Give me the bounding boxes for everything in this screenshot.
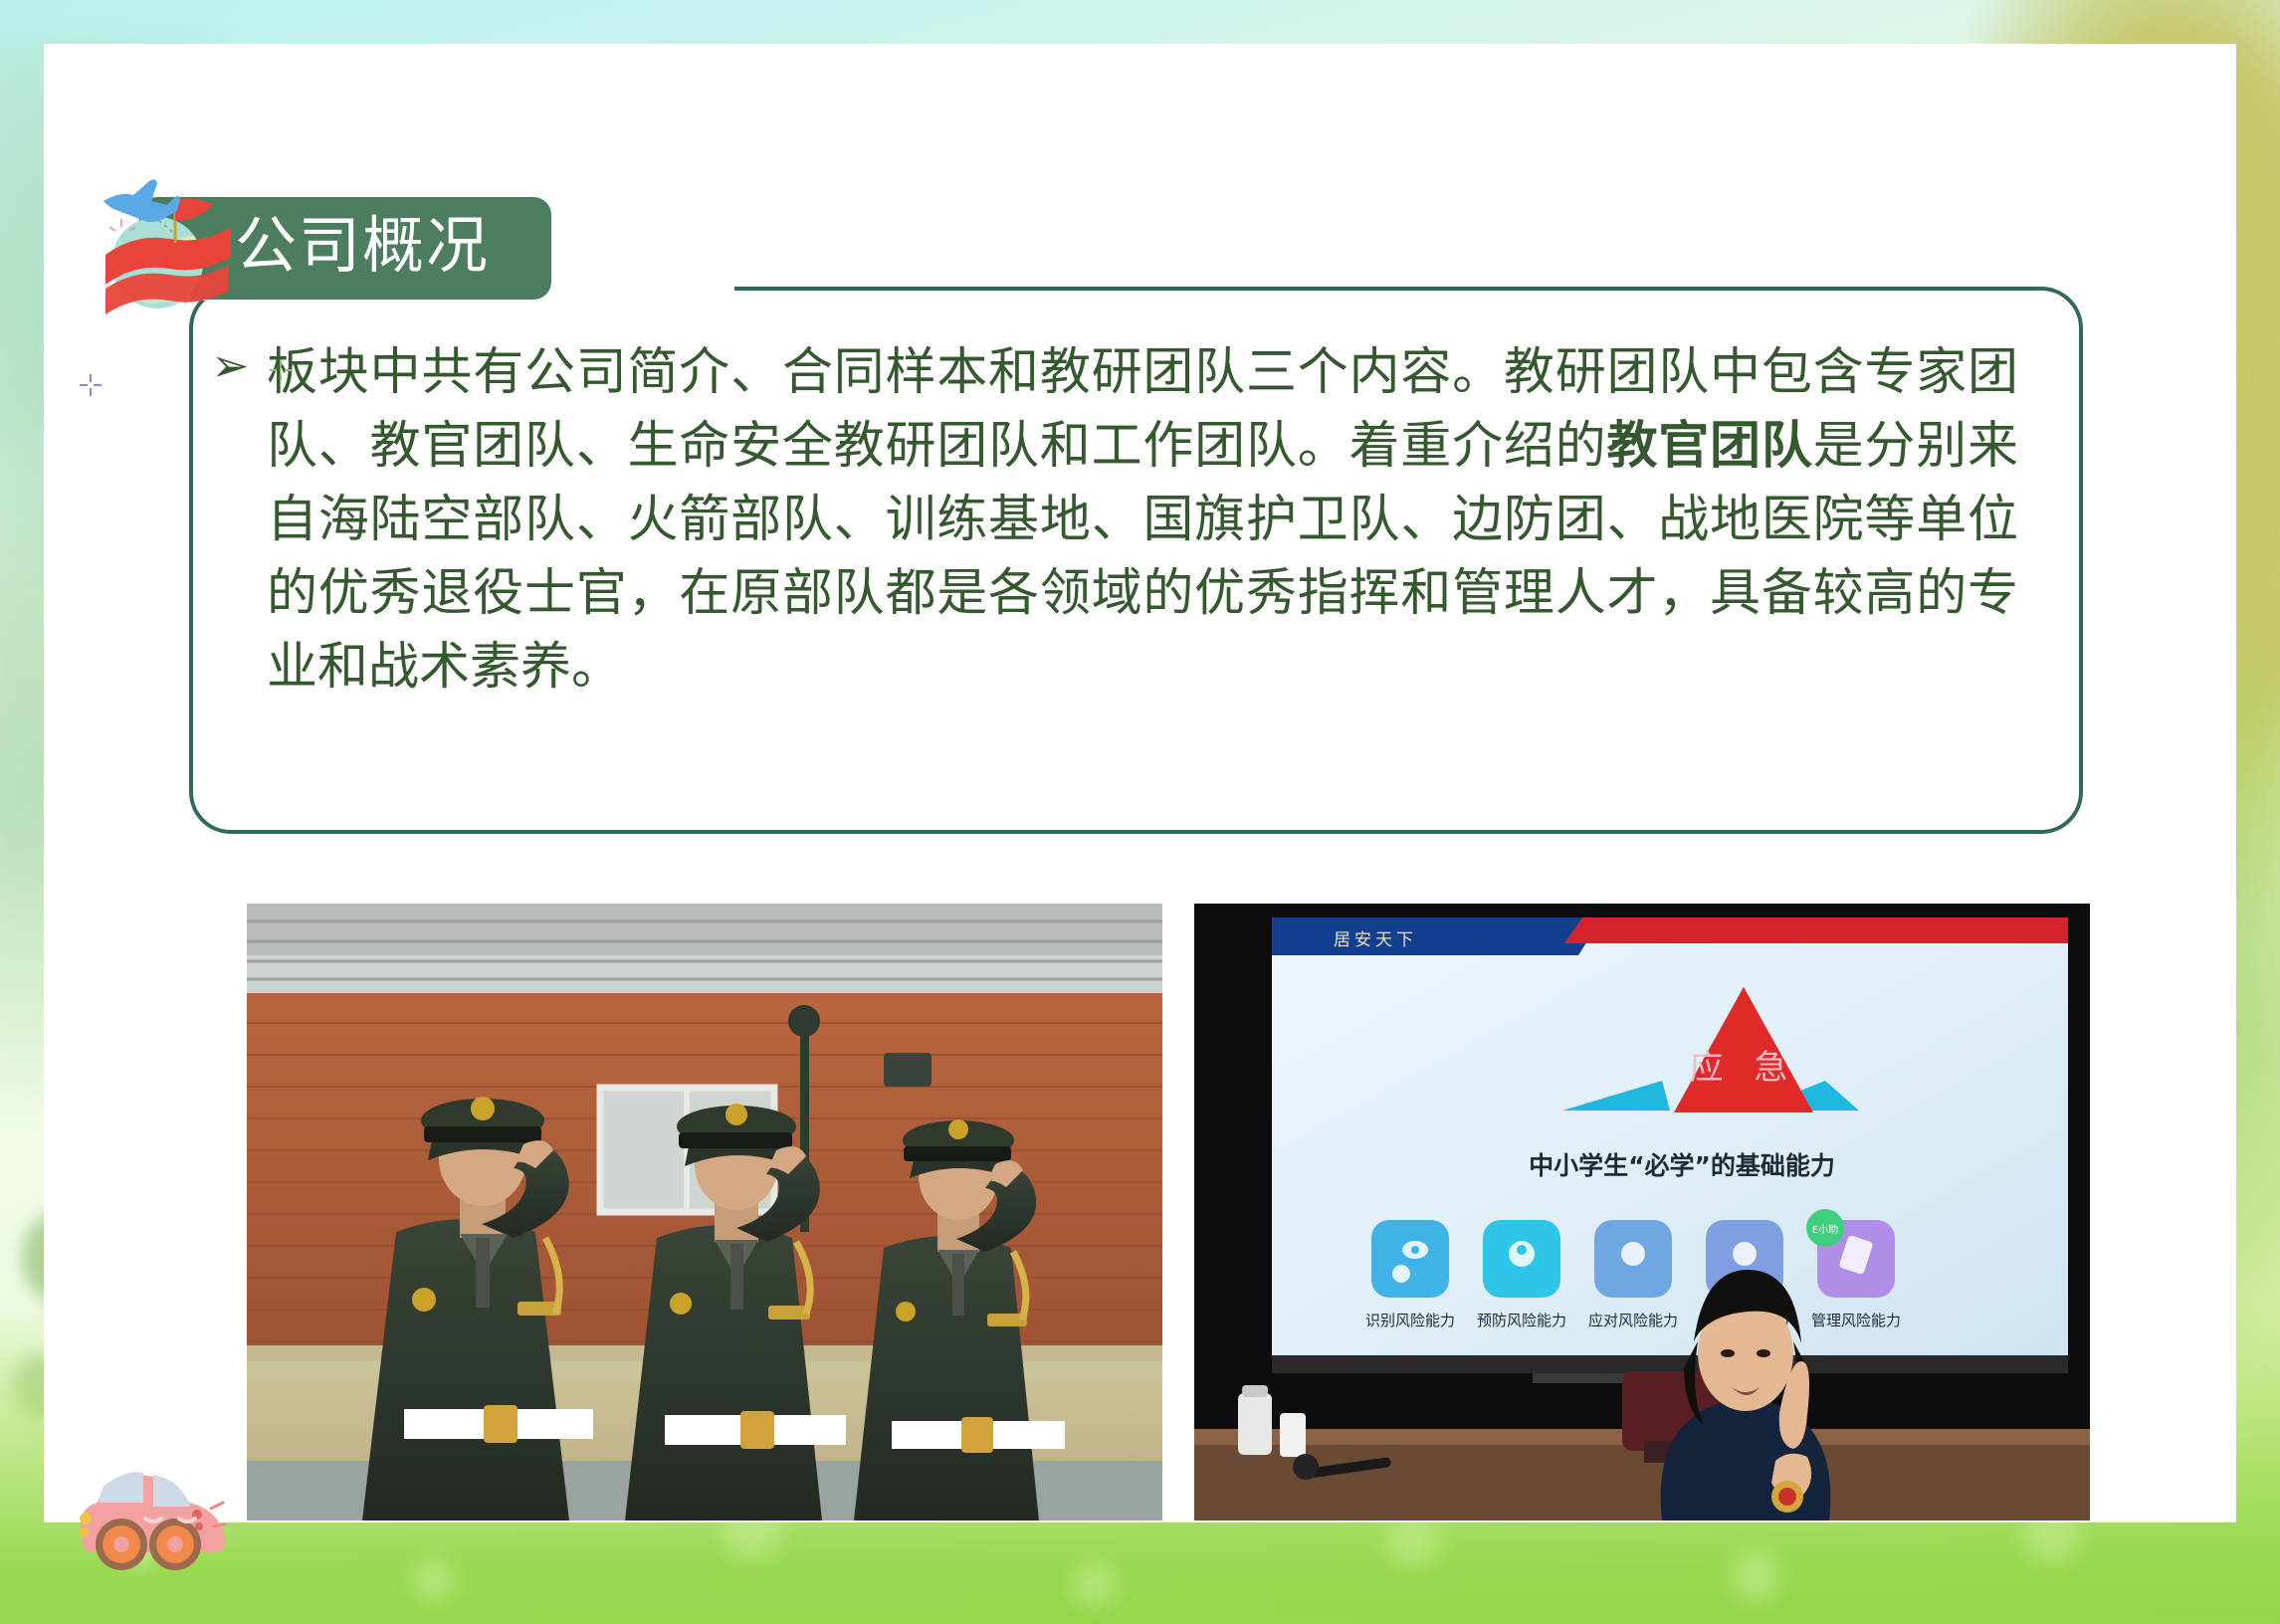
section-badge-label: 公司概况 xyxy=(139,197,551,300)
toy-car-icon xyxy=(58,1447,247,1576)
soldiers-saluting-photo xyxy=(247,904,1162,1521)
svg-text:中小学生“必学”的基础能力: 中小学生“必学”的基础能力 xyxy=(1529,1151,1835,1180)
safety-lecture-photo: 居安天下 应 急 中小学生“必学”的基础能力 xyxy=(1194,904,2090,1521)
body-paragraph: 板块中共有公司简介、合同样本和教研团队三个内容。教研团队中包含专家团队、教官团队… xyxy=(267,316,2018,705)
svg-text:管理风险能力: 管理风险能力 xyxy=(1811,1312,1901,1329)
section-header: 公司概况 xyxy=(139,197,551,300)
svg-text:应对风险能力: 应对风险能力 xyxy=(1588,1312,1678,1329)
svg-text:E小助: E小助 xyxy=(1812,1223,1838,1236)
svg-text:应 急: 应 急 xyxy=(1690,1048,1798,1088)
section-body-text: ➢ 板块中共有公司简介、合同样本和教研团队三个内容。教研团队中包含专家团队、教官… xyxy=(267,316,2018,705)
body-part-emphasis: 教官团队 xyxy=(1606,417,1812,476)
svg-text:预防风险能力: 预防风险能力 xyxy=(1477,1312,1566,1329)
svg-text:居安天下: 居安天下 xyxy=(1334,930,1417,950)
bullet-arrow-icon: ➢ xyxy=(211,342,250,388)
slide-canvas: 国防教育走进校园 xyxy=(0,0,2280,1624)
svg-text:识别风险能力: 识别风险能力 xyxy=(1365,1312,1455,1329)
